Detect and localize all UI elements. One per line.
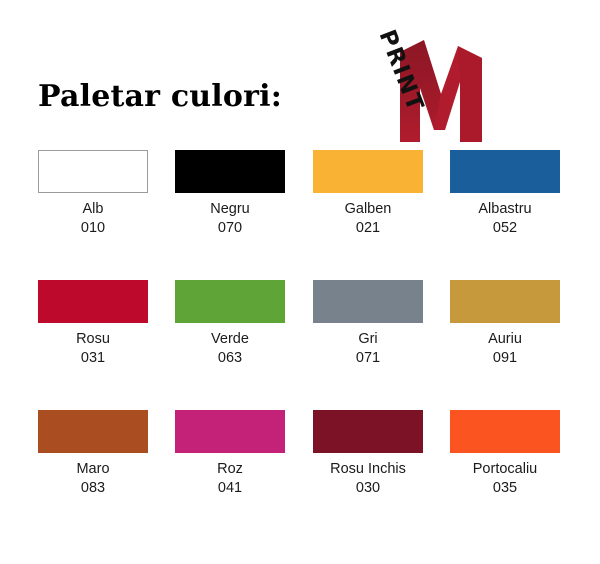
palette-item-rosu[interactable]: Rosu 031 bbox=[38, 280, 148, 368]
swatch-name: Rosu Inchis bbox=[313, 460, 423, 479]
swatch-caption: Maro 083 bbox=[38, 460, 148, 498]
swatch-name: Albastru bbox=[450, 200, 560, 219]
palette-item-roz[interactable]: Roz 041 bbox=[175, 410, 285, 498]
swatch-name: Roz bbox=[175, 460, 285, 479]
swatch-caption: Rosu 031 bbox=[38, 330, 148, 368]
swatch-caption: Portocaliu 035 bbox=[450, 460, 560, 498]
swatch-name: Portocaliu bbox=[450, 460, 560, 479]
swatch-caption: Rosu Inchis 030 bbox=[313, 460, 423, 498]
swatch-name: Verde bbox=[175, 330, 285, 349]
palette-item-albastru[interactable]: Albastru 052 bbox=[450, 150, 560, 238]
page-header: Paletar culori: PRINT bbox=[0, 0, 600, 150]
palette-item-auriu[interactable]: Auriu 091 bbox=[450, 280, 560, 368]
swatch-code: 091 bbox=[450, 349, 560, 368]
color-swatch[interactable] bbox=[450, 150, 560, 193]
palette-item-galben[interactable]: Galben 021 bbox=[313, 150, 423, 238]
swatch-caption: Verde 063 bbox=[175, 330, 285, 368]
swatch-caption: Alb 010 bbox=[38, 200, 148, 238]
swatch-name: Gri bbox=[313, 330, 423, 349]
color-swatch[interactable] bbox=[175, 150, 285, 193]
swatch-code: 070 bbox=[175, 219, 285, 238]
swatch-name: Negru bbox=[175, 200, 285, 219]
swatch-code: 031 bbox=[38, 349, 148, 368]
swatch-code: 035 bbox=[450, 479, 560, 498]
swatch-name: Maro bbox=[38, 460, 148, 479]
color-swatch[interactable] bbox=[175, 410, 285, 453]
palette-item-maro[interactable]: Maro 083 bbox=[38, 410, 148, 498]
palette-row: Rosu 031 Verde 063 Gri 071 bbox=[0, 280, 600, 410]
palette-item-verde[interactable]: Verde 063 bbox=[175, 280, 285, 368]
swatch-code: 021 bbox=[313, 219, 423, 238]
swatch-name: Auriu bbox=[450, 330, 560, 349]
swatch-code: 083 bbox=[38, 479, 148, 498]
color-swatch[interactable] bbox=[313, 280, 423, 323]
swatch-caption: Gri 071 bbox=[313, 330, 423, 368]
color-swatch[interactable] bbox=[38, 410, 148, 453]
swatch-name: Alb bbox=[38, 200, 148, 219]
palette-item-portocaliu[interactable]: Portocaliu 035 bbox=[450, 410, 560, 498]
swatch-name: Galben bbox=[313, 200, 423, 219]
swatch-code: 071 bbox=[313, 349, 423, 368]
color-swatch[interactable] bbox=[450, 280, 560, 323]
palette-item-gri[interactable]: Gri 071 bbox=[313, 280, 423, 368]
swatch-caption: Albastru 052 bbox=[450, 200, 560, 238]
swatch-caption: Galben 021 bbox=[313, 200, 423, 238]
swatch-caption: Roz 041 bbox=[175, 460, 285, 498]
swatch-name: Rosu bbox=[38, 330, 148, 349]
swatch-code: 063 bbox=[175, 349, 285, 368]
palette-grid: Alb 010 Negru 070 Galben 021 bbox=[0, 150, 600, 540]
color-swatch[interactable] bbox=[38, 280, 148, 323]
brand-logo: PRINT bbox=[366, 32, 488, 144]
swatch-code: 010 bbox=[38, 219, 148, 238]
color-swatch[interactable] bbox=[313, 150, 423, 193]
page-title: Paletar culori: bbox=[38, 82, 282, 112]
swatch-caption: Negru 070 bbox=[175, 200, 285, 238]
color-palette-page: Paletar culori: PRINT bbox=[0, 0, 600, 564]
palette-item-rosu-inchis[interactable]: Rosu Inchis 030 bbox=[313, 410, 423, 498]
color-swatch[interactable] bbox=[313, 410, 423, 453]
swatch-caption: Auriu 091 bbox=[450, 330, 560, 368]
palette-item-alb[interactable]: Alb 010 bbox=[38, 150, 148, 238]
color-swatch[interactable] bbox=[38, 150, 148, 193]
color-swatch[interactable] bbox=[175, 280, 285, 323]
color-swatch[interactable] bbox=[450, 410, 560, 453]
palette-row: Alb 010 Negru 070 Galben 021 bbox=[0, 150, 600, 280]
swatch-code: 041 bbox=[175, 479, 285, 498]
swatch-code: 030 bbox=[313, 479, 423, 498]
palette-row: Maro 083 Roz 041 Rosu Inchis 030 bbox=[0, 410, 600, 540]
swatch-code: 052 bbox=[450, 219, 560, 238]
palette-item-negru[interactable]: Negru 070 bbox=[175, 150, 285, 238]
